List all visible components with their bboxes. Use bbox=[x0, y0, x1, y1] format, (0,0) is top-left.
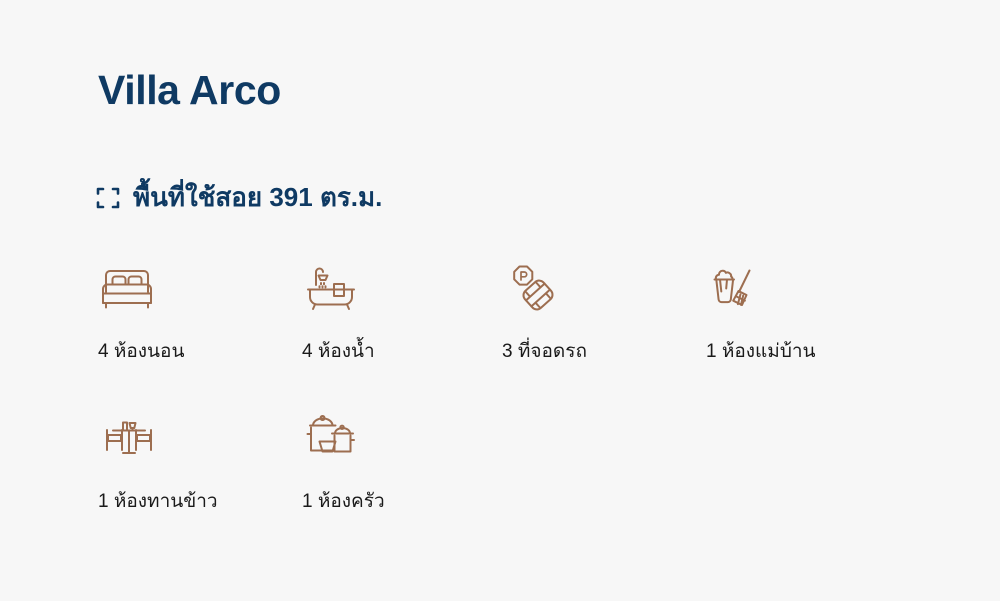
feature-label-bedrooms: 4 ห้องนอน bbox=[98, 340, 184, 364]
bathtub-icon bbox=[302, 262, 360, 314]
feature-label-bathrooms: 4 ห้องน้ำ bbox=[302, 340, 375, 364]
cooking-pot-icon bbox=[302, 412, 360, 464]
feature-item-kitchen: 1 ห้องครัว bbox=[302, 412, 502, 514]
feature-label-kitchen: 1 ห้องครัว bbox=[302, 490, 385, 514]
feature-label-parking: 3 ที่จอดรถ bbox=[502, 340, 587, 364]
area-expand-icon bbox=[95, 185, 121, 211]
feature-item-bathrooms: 4 ห้องน้ำ bbox=[302, 262, 502, 364]
feature-item-dining-room: 1 ห้องทานข้าว bbox=[98, 412, 302, 514]
feature-grid: 4 ห้องนอน 4 ห้องน้ำ bbox=[98, 262, 918, 514]
parking-car-icon bbox=[502, 262, 560, 314]
property-detail-card: Villa Arco พื้นที่ใช้สอย 391 ตร.ม. bbox=[0, 0, 1000, 601]
feature-item-bedrooms: 4 ห้องนอน bbox=[98, 262, 302, 364]
usable-area-text: พื้นที่ใช้สอย 391 ตร.ม. bbox=[133, 184, 382, 210]
feature-label-maid-room: 1 ห้องแม่บ้าน bbox=[706, 340, 816, 364]
feature-item-parking: 3 ที่จอดรถ bbox=[502, 262, 706, 364]
page-title: Villa Arco bbox=[98, 66, 281, 115]
broom-bucket-icon bbox=[706, 262, 764, 314]
dining-table-icon bbox=[98, 412, 156, 464]
feature-label-dining-room: 1 ห้องทานข้าว bbox=[98, 490, 218, 514]
usable-area-row: พื้นที่ใช้สอย 391 ตร.ม. bbox=[95, 182, 382, 211]
bed-icon bbox=[98, 262, 156, 314]
feature-item-maid-room: 1 ห้องแม่บ้าน bbox=[706, 262, 918, 364]
